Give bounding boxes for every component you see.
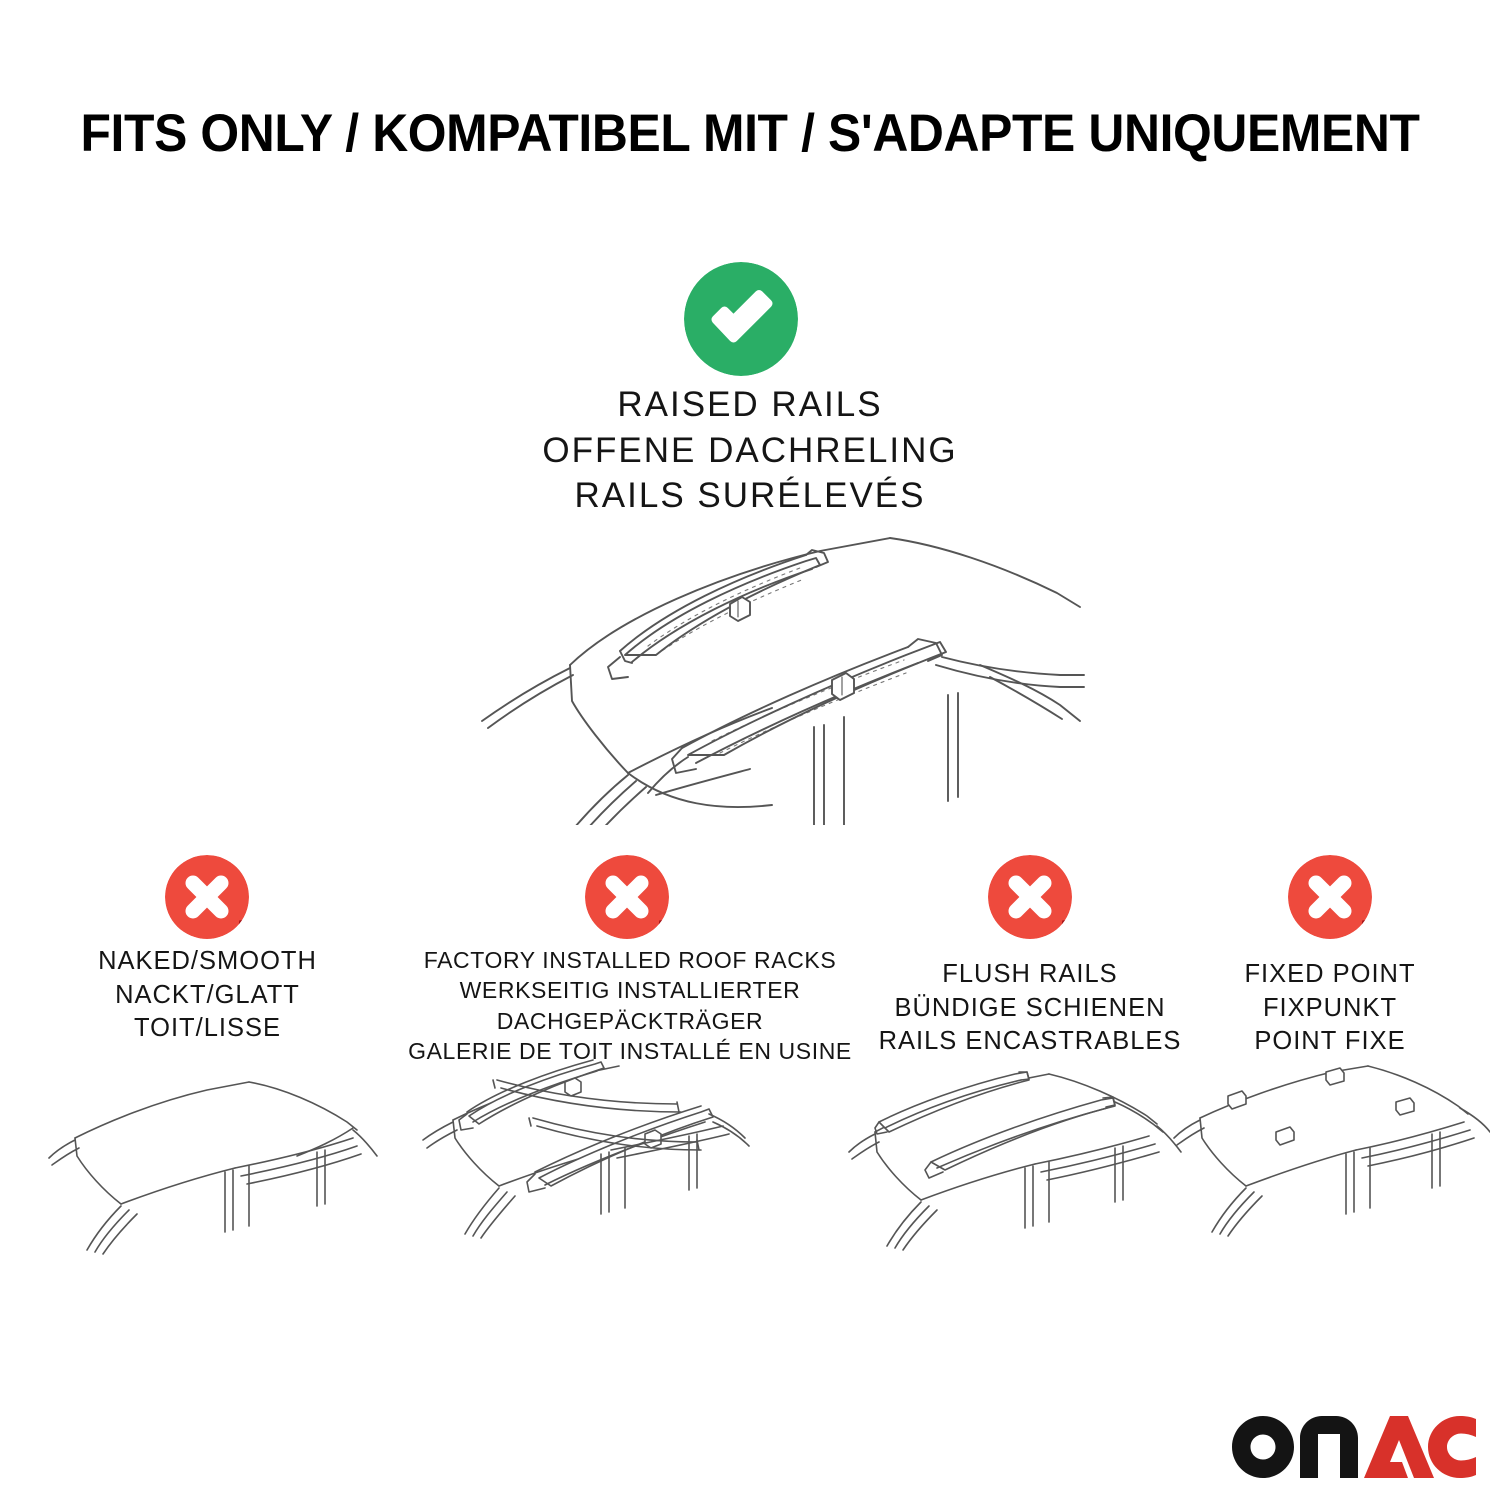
caption-line: RAILS ENCASTRABLES [865,1025,1195,1059]
illustration-naked-smooth [35,1060,385,1280]
incompatible-caption-3: FLUSH RAILS BÜNDIGE SCHIENEN RAILS ENCAS… [865,958,1195,1059]
cross-glyph [988,855,1072,939]
logo-letter-c [1428,1416,1476,1478]
caption-line: FIXED POINT [1175,958,1485,992]
caption-line: NAKED/SMOOTH [30,945,385,979]
compatible-caption: RAISED RAILS OFFENE DACHRELING RAILS SUR… [450,382,1050,519]
check-circle-icon [684,262,798,376]
caption-line: OFFENE DACHRELING [450,428,1050,474]
illustration-flush-rails [835,1060,1185,1280]
cross-circle-icon [585,855,669,939]
cross-glyph [165,855,249,939]
incompatible-caption-4: FIXED POINT FIXPUNKT POINT FIXE [1175,958,1485,1059]
logo-letter-a [1364,1416,1434,1478]
cross-circle-icon [165,855,249,939]
caption-line: RAISED RAILS [450,382,1050,428]
illustration-fixed-point [1160,1060,1490,1280]
fitment-compatibility-infographic: FITS ONLY / KOMPATIBEL MIT / S'ADAPTE UN… [0,0,1500,1500]
caption-line: WERKSEITIG INSTALLIERTER [395,975,865,1005]
illustration-factory-roof-rack [405,1058,765,1283]
omac-logo [1232,1416,1476,1478]
check-glyph [684,262,798,376]
logo-letter-o [1232,1416,1294,1478]
cross-glyph [585,855,669,939]
caption-line: TOIT/LISSE [30,1012,385,1046]
caption-line: NACKT/GLATT [30,979,385,1013]
incompatible-caption-2: FACTORY INSTALLED ROOF RACKS WERKSEITIG … [395,945,865,1066]
caption-line: FIXPUNKT [1175,992,1485,1026]
caption-line: DACHGEPÄCKTRÄGER [395,1006,865,1036]
cross-circle-icon [1288,855,1372,939]
illustration-raised-rails [420,505,1110,825]
incompatible-caption-1: NAKED/SMOOTH NACKT/GLATT TOIT/LISSE [30,945,385,1046]
cross-glyph [1288,855,1372,939]
logo-letter-m [1300,1416,1358,1478]
caption-line: POINT FIXE [1175,1025,1485,1059]
cross-circle-icon [988,855,1072,939]
caption-line: FACTORY INSTALLED ROOF RACKS [395,945,865,975]
caption-line: FLUSH RAILS [865,958,1195,992]
page-title: FITS ONLY / KOMPATIBEL MIT / S'ADAPTE UN… [45,106,1455,162]
caption-line: BÜNDIGE SCHIENEN [865,992,1195,1026]
